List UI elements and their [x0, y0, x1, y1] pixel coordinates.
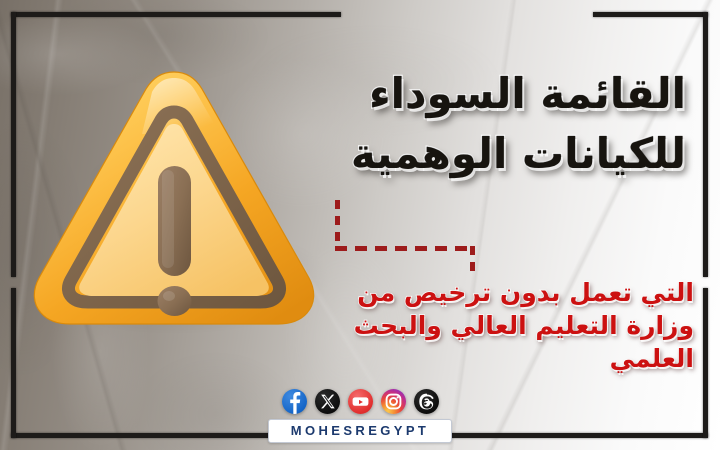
brand-banner: MOHESREGYPT — [268, 419, 453, 443]
x-glyph — [315, 389, 340, 414]
facebook-icon[interactable] — [282, 389, 307, 414]
exclamation-dot — [158, 286, 192, 316]
social-links — [0, 389, 720, 414]
dashed-bracket-left-stem — [335, 200, 340, 246]
body-line-1: التي تعمل بدون ترخيص من — [244, 276, 694, 309]
dashed-bracket-horizontal — [335, 246, 475, 251]
brand-banner-wrap: MOHESREGYPT — [0, 419, 720, 443]
dashed-bracket-right-stem — [470, 246, 475, 274]
poster: القائمة السوداء للكيانات الوهمية التي تع… — [0, 0, 720, 450]
headline: القائمة السوداء للكيانات الوهمية — [286, 64, 686, 183]
youtube-icon[interactable] — [348, 389, 373, 414]
youtube-glyph — [348, 389, 373, 414]
facebook-glyph — [282, 389, 307, 414]
threads-glyph — [414, 389, 439, 414]
threads-icon[interactable] — [414, 389, 439, 414]
instagram-glyph — [381, 389, 406, 414]
body-line-3: العلمي — [244, 342, 694, 375]
x-twitter-icon[interactable] — [315, 389, 340, 414]
dashed-bracket — [330, 200, 480, 276]
exclamation-bar-gloss — [162, 170, 174, 268]
headline-line-2: للكيانات الوهمية — [286, 124, 686, 184]
instagram-icon[interactable] — [381, 389, 406, 414]
body-line-2: وزارة التعليم العالي والبحث — [244, 309, 694, 342]
headline-line-1: القائمة السوداء — [286, 64, 686, 124]
exclamation-dot-gloss — [163, 291, 175, 301]
body-text: التي تعمل بدون ترخيص من وزارة التعليم ال… — [244, 276, 694, 375]
